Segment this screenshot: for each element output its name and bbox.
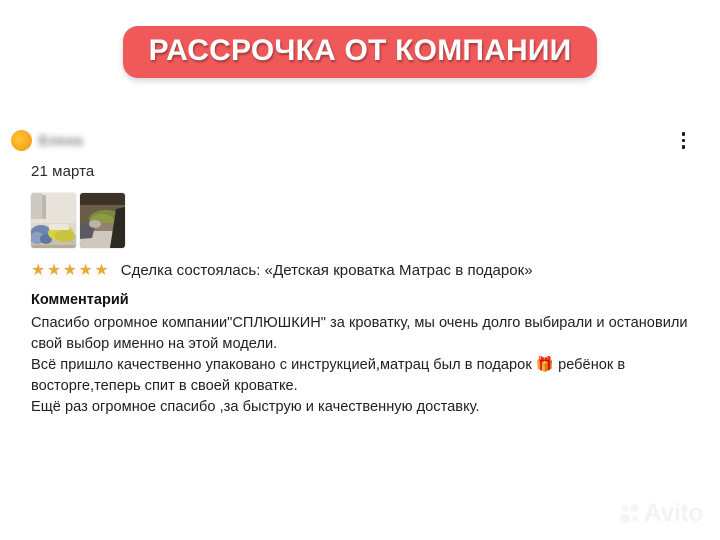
- star-2: ★: [47, 263, 61, 279]
- deal-status-text: Сделка состоялась: «Детская кроватка Мат…: [121, 262, 533, 279]
- kebab-menu-icon[interactable]: [681, 132, 686, 149]
- review-photo-thumbnail-1[interactable]: [31, 193, 76, 248]
- review-comment-block: Комментарий Спасибо огромное компании"СП…: [31, 292, 691, 418]
- review-header: Елена: [0, 120, 720, 154]
- rating-stars: ★ ★ ★ ★ ★: [31, 263, 109, 279]
- comment-paragraph-2: Всё пришло качественно упаковано с инстр…: [31, 355, 691, 397]
- comment-paragraph-3: Ещё раз огромное спасибо ,за быструю и к…: [31, 397, 691, 418]
- review-rating-line: ★ ★ ★ ★ ★ Сделка состоялась: «Детская кр…: [31, 262, 720, 279]
- kebab-dot-2: [682, 139, 686, 143]
- review-photo-thumbnail-2[interactable]: [80, 193, 125, 248]
- review-author-row: Елена: [16, 120, 720, 151]
- star-4: ★: [79, 263, 93, 279]
- comment-paragraph-1: Спасибо огромное компании"СПЛЮШКИН" за к…: [31, 313, 691, 355]
- avatar: [11, 130, 32, 151]
- review-photo-strip: [31, 193, 720, 248]
- promo-banner-container: РАССРОЧКА ОТ КОМПАНИИ: [0, 26, 720, 78]
- review-card: Елена 21 марта: [0, 120, 720, 418]
- photo-thumbnail-1-image: [31, 193, 76, 248]
- comment-title: Комментарий: [31, 292, 691, 308]
- avito-logo-icon: [619, 503, 641, 525]
- star-3: ★: [63, 263, 77, 279]
- star-1: ★: [31, 263, 45, 279]
- star-5: ★: [94, 263, 108, 279]
- review-date: 21 марта: [31, 163, 720, 180]
- kebab-dot-3: [682, 145, 686, 149]
- promo-banner: РАССРОЧКА ОТ КОМПАНИИ: [123, 26, 598, 78]
- photo-thumbnail-2-image: [80, 193, 125, 248]
- avito-watermark-text: Avito: [644, 501, 703, 526]
- review-author-name: Елена: [39, 133, 83, 148]
- kebab-dot-1: [682, 132, 686, 136]
- avito-watermark: Avito: [619, 501, 703, 526]
